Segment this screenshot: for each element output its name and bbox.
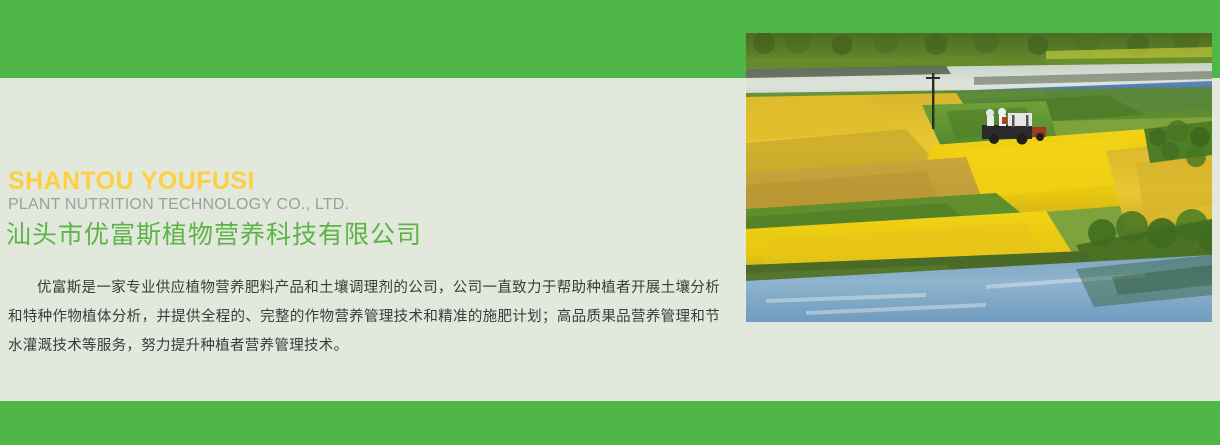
farm-field-photo [746, 33, 1212, 322]
about-us-banner: SHANTOU YOUFUSI PLANT NUTRITION TECHNOLO… [0, 0, 1220, 445]
brand-name-english: SHANTOU YOUFUSI [8, 169, 255, 194]
farm-field-photo-illustration [746, 33, 1212, 322]
about-paragraph: 优富斯是一家专业供应植物营养肥料产品和土壤调理剂的公司，公司一直致力于帮助种植者… [8, 274, 720, 361]
brand-name-chinese: 汕头市优富斯植物营养科技有限公司 [6, 220, 422, 251]
brand-tagline-english: PLANT NUTRITION TECHNOLOGY CO., LTD. [8, 197, 349, 213]
bottom-green-bar [0, 401, 1220, 445]
about-content-column: SHANTOU YOUFUSI PLANT NUTRITION TECHNOLO… [0, 78, 746, 401]
